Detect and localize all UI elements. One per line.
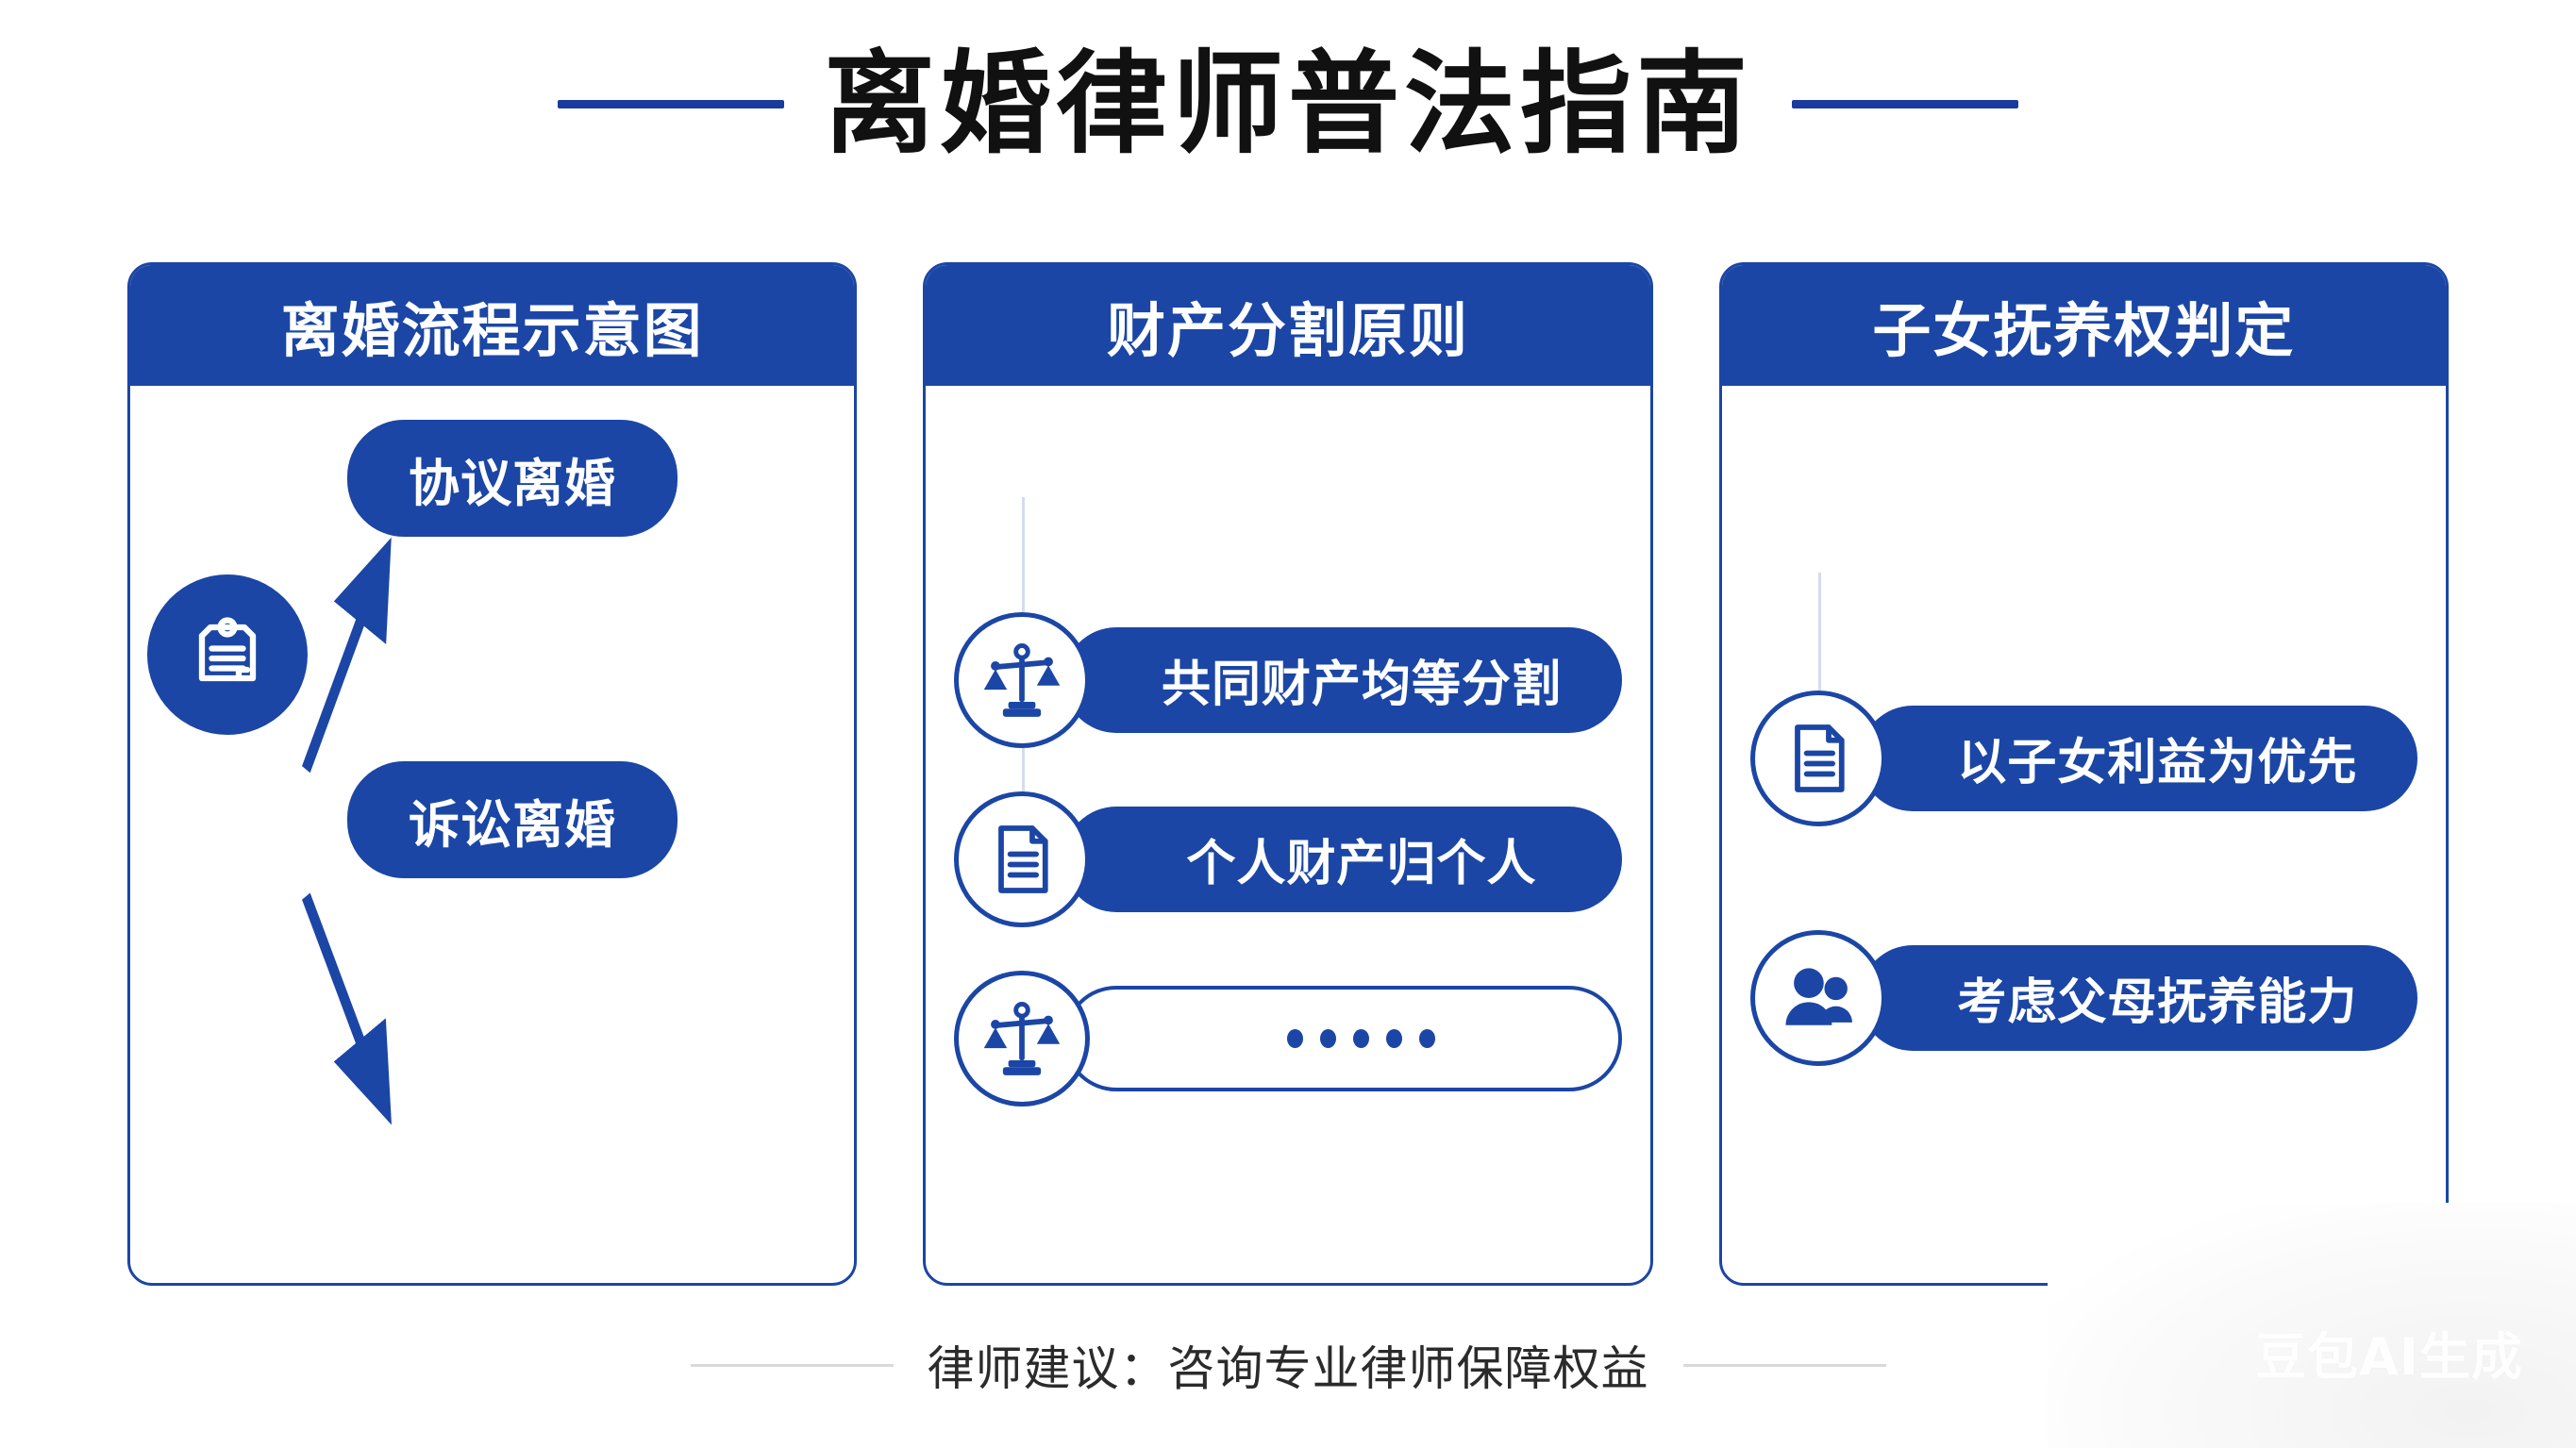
list-item[interactable]: 以子女利益为优先 bbox=[1722, 691, 2446, 826]
item-label-pill: 共同财产均等分割 bbox=[1063, 627, 1621, 733]
item-label-pill: 以子女利益为优先 bbox=[1860, 706, 2417, 811]
list-item[interactable]: 共同财产均等分割 bbox=[926, 612, 1649, 748]
users-icon bbox=[1750, 930, 1886, 1066]
list-item[interactable]: 考虑父母抚养能力 bbox=[1722, 930, 2446, 1066]
footer-advice-text: 律师建议：咨询专业律师保障权益 bbox=[928, 1331, 1649, 1399]
card-body-child-custody: 以子女利益为优先 考虑父母抚养能力 bbox=[1722, 386, 2446, 1283]
flow-diagram: 协议离婚 诉讼离婚 bbox=[130, 386, 854, 1283]
document-icon bbox=[954, 791, 1090, 927]
document-icon bbox=[1750, 691, 1886, 826]
ellipsis-dots bbox=[1287, 1029, 1435, 1048]
card-header-divorce-process: 离婚流程示意图 bbox=[130, 265, 854, 386]
flow-node-litigation-divorce[interactable]: 诉讼离婚 bbox=[347, 761, 677, 878]
property-item-list: 共同财产均等分割 个人财产归个人 bbox=[926, 386, 1649, 1286]
title-rule-left bbox=[558, 100, 784, 108]
watermark-label: 豆包AI生成 bbox=[2255, 1315, 2523, 1390]
card-body-property-division: 共同财产均等分割 个人财产归个人 bbox=[926, 386, 1649, 1283]
card-header-child-custody: 子女抚养权判定 bbox=[1722, 265, 2446, 386]
item-label-pill: 个人财产归个人 bbox=[1063, 807, 1621, 912]
list-item[interactable]: 个人财产归个人 bbox=[926, 791, 1649, 927]
list-item[interactable] bbox=[926, 971, 1649, 1107]
clipboard-icon bbox=[182, 607, 273, 703]
page-title-row: 离婚律师普法指南 bbox=[0, 28, 2576, 179]
custody-item-list: 以子女利益为优先 考虑父母抚养能力 bbox=[1722, 386, 2446, 1286]
card-property-division: 财产分割原则 bbox=[923, 262, 1652, 1286]
card-grid: 离婚流程示意图 bbox=[127, 262, 2449, 1286]
card-header-property-division: 财产分割原则 bbox=[926, 265, 1649, 386]
flow-hub bbox=[147, 574, 308, 735]
title-rule-right bbox=[1792, 100, 2018, 108]
item-placeholder-pill bbox=[1063, 986, 1621, 1091]
scales-icon bbox=[954, 971, 1090, 1107]
card-body-divorce-process: 协议离婚 诉讼离婚 bbox=[130, 386, 854, 1283]
card-divorce-process: 离婚流程示意图 bbox=[127, 262, 857, 1286]
item-label-pill: 考虑父母抚养能力 bbox=[1860, 945, 2417, 1051]
footer-rule-left bbox=[691, 1364, 894, 1367]
flow-node-agreement-divorce[interactable]: 协议离婚 bbox=[347, 420, 677, 537]
card-child-custody: 子女抚养权判定 以子女利益为优先 bbox=[1719, 262, 2449, 1286]
footer-rule-right bbox=[1683, 1364, 1886, 1367]
footer: 律师建议：咨询专业律师保障权益 bbox=[0, 1331, 2576, 1399]
scales-icon bbox=[954, 612, 1090, 748]
page-title: 离婚律师普法指南 bbox=[824, 48, 1752, 159]
